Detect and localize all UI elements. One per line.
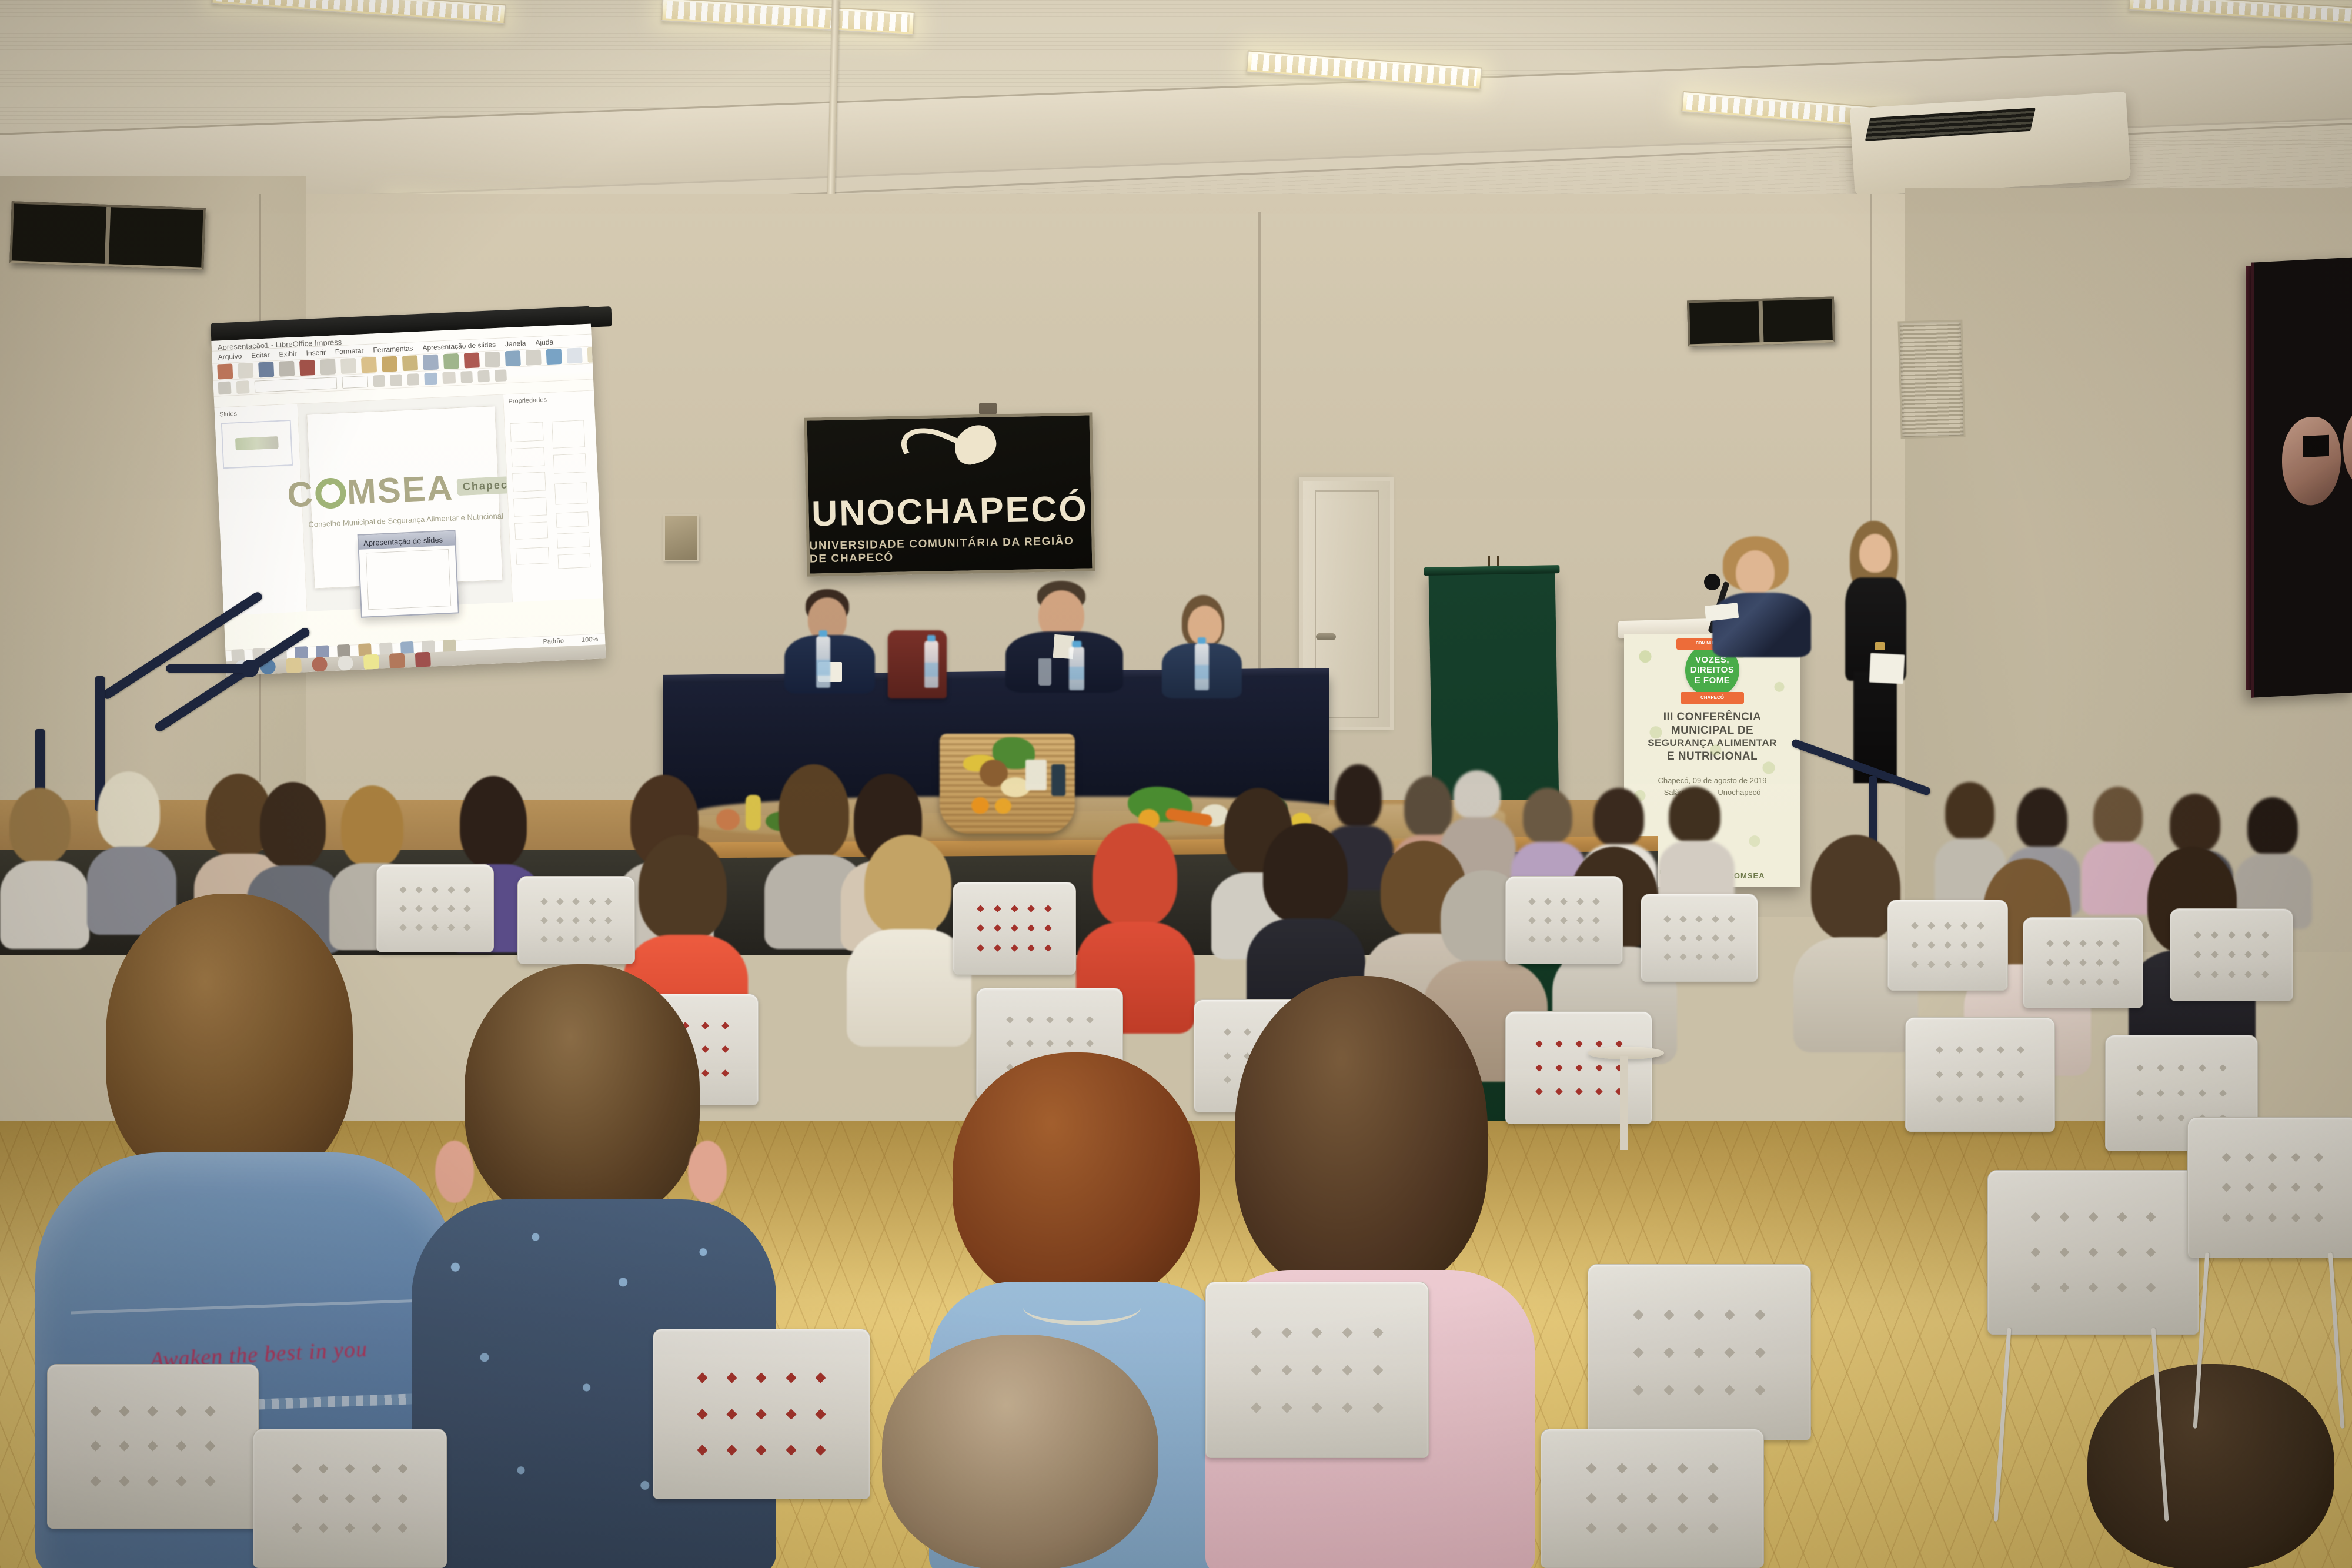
fill-color-icon[interactable] [424,373,437,385]
foreground-audience-gray [847,1335,1200,1568]
chair-perforations [687,1359,836,1469]
audience-hair [1454,770,1501,820]
paste-icon[interactable] [361,357,377,373]
panelist-left [781,589,881,689]
impress-icon[interactable] [389,653,405,669]
audience-chair[interactable] [1641,894,1758,982]
produce-bottle [1051,764,1065,796]
comsea-logo-subtitle: Conselho Municipal de Segurança Alimenta… [308,511,503,529]
gray-person-hair [882,1335,1158,1568]
font-name-field[interactable] [255,377,338,392]
menu-item-exibir[interactable]: Exibir [279,349,297,358]
export-pdf-icon[interactable] [299,360,315,376]
bottle-label [924,663,938,677]
bullet-list-icon[interactable] [495,369,507,382]
podium-speaker [1705,536,1817,654]
layout-option[interactable] [510,422,543,442]
split-air-conditioner [1850,92,2131,196]
bottle-cap [927,635,936,641]
logo-ribbon-bottom: CHAPECÓ [1681,692,1744,704]
copy-icon[interactable] [340,358,356,374]
audience-hair [1093,823,1177,927]
chair-perforations [1241,1313,1393,1426]
water-bottle [1069,647,1084,690]
zoom-icon[interactable] [218,382,232,395]
conference-hall-photo: Apresentação1 - LibreOffice Impress Arqu… [0,0,2352,1568]
artwork-face-right [2343,405,2352,490]
status-layout-text: Padrão [543,637,564,646]
audience-hair [864,835,951,935]
audience-chair[interactable] [1987,1170,2199,1335]
start-slideshow-icon[interactable] [546,349,562,365]
artwork-face-left [2282,416,2341,507]
water-bottle [1195,643,1209,690]
conference-title-line3: SEGURANÇA ALIMENTAR [1624,737,1800,750]
logo-line2: DIREITOS [1690,665,1735,675]
chair-perforations [2042,934,2124,992]
chair-perforations [284,1454,416,1543]
audience-chair[interactable] [1887,900,2008,991]
side-table-leg [1620,1056,1628,1150]
table-icon[interactable] [423,355,439,370]
wall-speaker [9,201,205,269]
layout-option[interactable] [513,497,547,517]
audience-hair [98,771,160,849]
audience-hair [639,835,727,941]
slide-thumb-logo [235,436,279,450]
produce-corn [746,795,761,830]
redo-icon[interactable] [402,355,418,371]
special-char-icon[interactable] [526,350,542,366]
ac-grill [1865,108,2036,141]
undo-icon[interactable] [382,356,397,372]
pink-person-hair [1235,976,1488,1293]
audience-chair[interactable] [1905,1017,2055,1132]
audience-hair [2093,787,2143,844]
assistant-watch-icon [1875,642,1885,650]
layout-option[interactable] [554,483,588,505]
audience-chair[interactable] [2187,1117,2352,1258]
audience-hair [1945,782,1994,841]
comsea-logo-msea: MSEA [346,467,454,513]
status-zoom-text: 100% [582,636,599,644]
man-ear [688,1141,727,1203]
audience-hair [1669,787,1720,843]
chair-perforations [1623,1296,1775,1409]
unochapeco-logo-mark [898,424,1000,483]
slideshow-dialog[interactable]: Apresentação de slides [357,530,459,618]
audience-member [847,835,970,1041]
curly-person-hair [953,1052,1200,1305]
assistant-head [1859,534,1891,573]
layout-option[interactable] [512,472,546,492]
handrail-end-knob [241,660,259,677]
water-bottle [924,641,938,688]
bottle-cap [1072,641,1081,647]
bottle-label [1195,665,1209,679]
audience-hair [2170,794,2220,852]
hyperlink-icon[interactable] [505,350,521,366]
layout-option[interactable] [514,521,548,540]
stage-handrail-top[interactable] [166,664,248,673]
audience-hair [2017,788,2067,849]
produce-orange [971,797,989,814]
foreground-audience-right-edge [2070,1364,2352,1568]
layout-option[interactable] [558,553,592,569]
right-edge-hair [2087,1364,2334,1568]
audience-chair[interactable] [953,882,1076,975]
unochapeco-subtitle: UNIVERSIDADE COMUNITÁRIA DA REGIÃO DE CH… [809,534,1092,566]
conference-title: III CONFERÊNCIA MUNICIPAL DE SEGURANÇA A… [1624,710,1800,763]
chair-perforations [1907,916,1989,974]
artwork-eye-bar [2303,435,2329,457]
slide-panel-title: Slides [219,410,237,418]
man-ear [435,1141,474,1203]
font-size-field[interactable] [342,376,368,389]
chair-perforations [1529,1032,1629,1104]
audience-hair [260,782,326,868]
produce-packet [1025,760,1047,790]
layout-option[interactable] [556,511,589,527]
man-hair [465,964,700,1223]
dialog-body [366,549,451,609]
menu-item-apresentacao[interactable]: Apresentação de slides [422,340,496,352]
menu-item-ferramentas[interactable]: Ferramentas [373,344,413,354]
audience-chair[interactable] [253,1429,447,1568]
projection-screen: Apresentação1 - LibreOffice Impress Arqu… [211,324,606,676]
bold-icon[interactable] [373,375,385,387]
wall-vent [1897,320,1965,439]
new-doc-icon[interactable] [217,363,233,379]
water-bottle [816,636,830,688]
helplines-icon[interactable] [587,347,593,363]
chair-perforations [1524,892,1604,948]
audience-hair [1263,823,1348,923]
textbox-icon[interactable] [485,352,500,367]
chrome-icon[interactable] [338,656,353,671]
banner-mount [979,403,997,414]
layout-option[interactable] [553,453,587,473]
audience-hair [9,788,71,863]
layout-option[interactable] [557,532,590,548]
audience-chair[interactable] [1205,1282,1429,1458]
conference-title-line4: E NUTRICIONAL [1624,750,1800,763]
slide-editing-canvas[interactable]: C MSEA Chapecó Conselho Municipal de Seg… [298,395,512,612]
denim-person-hair [106,894,353,1188]
conference-title-line1: III CONFERÊNCIA [1624,710,1800,724]
foreground-audience-pink [1205,976,1535,1568]
chair-perforations [1576,1454,1728,1543]
layout-option[interactable] [516,547,549,565]
standing-assistant [1839,521,1910,785]
comsea-logo-o-circle [315,477,346,509]
speaker-head [1736,550,1775,595]
assistant-paper [1869,653,1905,684]
open-icon[interactable] [238,363,253,379]
projection-screen-area: Apresentação1 - LibreOffice Impress Arqu… [211,324,606,676]
pdf-reader-icon[interactable] [415,652,431,668]
menu-item-janela[interactable]: Janela [505,339,526,349]
media-player-icon[interactable] [312,657,328,673]
align-center-icon[interactable] [477,370,490,383]
comsea-logo: C MSEA Chapecó [286,464,522,515]
chair-perforations [1659,910,1739,966]
audience-chair[interactable] [2023,917,2143,1008]
banner-rod [1424,565,1559,576]
underline-icon[interactable] [407,373,419,386]
audience-hair [1593,788,1644,847]
menu-item-editar[interactable]: Editar [251,350,270,359]
save-icon[interactable] [258,362,274,377]
audience-chair[interactable] [1505,876,1623,964]
dialog-title-bar: Apresentação de slides [358,531,455,550]
menu-item-inserir[interactable]: Inserir [306,348,326,357]
audience-chair[interactable] [653,1329,870,1499]
chair-perforations [973,898,1057,958]
panelist-center [1005,581,1123,693]
necklace [1023,1290,1141,1325]
layout-option[interactable] [511,447,544,467]
unochapeco-name: UNOCHAPECÓ [811,487,1089,534]
properties-sidebar: Propriedades [503,391,603,603]
water-glass [1038,658,1051,686]
chair-perforations [2190,925,2274,984]
menu-item-ajuda[interactable]: Ajuda [535,338,553,347]
audience-chair[interactable] [47,1364,259,1529]
audience-hair [460,776,527,868]
display-views-icon[interactable] [236,380,250,394]
audience-chair[interactable] [2170,908,2293,1001]
door-handle[interactable] [1316,633,1336,640]
slide-thumbnail[interactable] [221,420,293,469]
chair-perforations [2214,1142,2330,1233]
dark-portrait-panel [2251,257,2352,697]
file-explorer-icon[interactable] [286,658,302,674]
conference-title-line2: MUNICIPAL DE [1624,724,1800,737]
bottle-cap [1198,637,1206,644]
bottle-label [1069,667,1084,680]
small-wall-plaque [663,514,699,561]
logo-line3: E FOME [1695,676,1730,686]
comsea-logo-word: C MSEA Chapecó [286,464,522,515]
chart-icon[interactable] [464,352,480,368]
bottle-cap [819,630,827,637]
audience-hair [779,764,849,858]
audience-hair [1523,788,1572,844]
audience-hair [341,785,403,867]
chair-perforations [2022,1199,2166,1305]
bottle-label [816,660,830,675]
wall-speaker [1687,297,1835,347]
image-icon[interactable] [443,353,459,369]
audience-chair[interactable] [1588,1264,1811,1440]
grid-icon[interactable] [567,347,583,363]
produce-onion [716,809,740,830]
cut-icon[interactable] [320,359,336,375]
layout-option[interactable] [552,420,585,449]
produce-orange [995,798,1011,814]
chair-perforations [536,892,616,948]
italic-icon[interactable] [390,374,402,386]
menu-item-arquivo[interactable]: Arquivo [218,352,242,362]
chair-perforations [81,1393,225,1499]
conference-date: Chapecó, 09 de agosto de 2019 [1624,775,1800,787]
unochapeco-sign: UNOCHAPECÓ UNIVERSIDADE COMUNITÁRIA DA R… [804,412,1095,576]
audience-chair[interactable] [517,876,635,964]
align-left-icon[interactable] [460,371,473,383]
speaker-torso [1712,593,1811,657]
audience-chair[interactable] [1541,1429,1764,1568]
line-color-icon[interactable] [442,372,456,384]
print-icon[interactable] [279,361,295,377]
chair-perforations [1929,1038,2031,1111]
audience-hair [1335,764,1382,828]
properties-title: Propriedades [508,396,547,405]
menu-item-formatar[interactable]: Formatar [335,346,364,356]
notes-icon[interactable] [363,654,379,670]
